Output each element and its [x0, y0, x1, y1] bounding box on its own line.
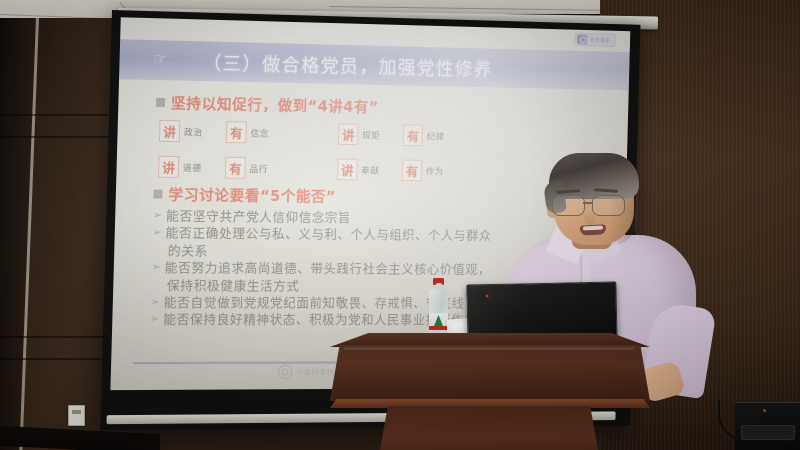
- matrix-word: 作为: [426, 164, 444, 177]
- slide-title: （三）做合格党员，加强党性修养: [203, 48, 493, 81]
- list-item-text: 保持积极健康生活方式: [167, 279, 300, 296]
- list-item-text: 能否正确处理公与私、义与利、个人与组织、个人与群众: [165, 227, 491, 246]
- matrix-row: 讲奉献 有作为: [337, 159, 444, 182]
- matrix-word: 纪律: [426, 129, 444, 142]
- section-one-heading: 坚持以知促行，做到“4讲4有”: [156, 92, 616, 122]
- podium-top: [330, 333, 650, 347]
- speaker-nose: [584, 211, 596, 225]
- arrow-bullet-icon: ➢: [153, 210, 162, 224]
- matrix-char: 讲: [338, 123, 359, 145]
- slide-badge-label: 党员徽章: [590, 36, 610, 43]
- matrix-column-left: 讲政治 有信念 讲道德 有品行: [158, 120, 269, 179]
- list-item-text: 能否努力追求高尚道德、带头践行社会主义核心价值观，: [164, 262, 491, 280]
- list-item-text: 能否坚守共产党人信仰信念宗旨: [166, 210, 351, 228]
- list-item-text: 的关系: [168, 244, 209, 261]
- matrix-char: 讲: [159, 120, 180, 142]
- pointing-hand-icon: ☞: [153, 52, 168, 68]
- slide-badge: 党员徽章: [575, 33, 616, 47]
- water-bottle[interactable]: [429, 283, 448, 338]
- bottle-label: [429, 313, 448, 330]
- podium-base: [374, 406, 604, 450]
- matrix-word: 政治: [184, 125, 203, 138]
- matrix-word: 道德: [183, 161, 202, 174]
- audio-amplifier-rack[interactable]: [735, 402, 800, 450]
- matrix-char: 讲: [337, 159, 358, 181]
- matrix-row: 讲道德 有品行: [158, 156, 268, 179]
- section-one-heading-text: 坚持以知促行，做到“4讲4有”: [171, 92, 379, 117]
- matrix-row: 讲政治 有信念: [159, 120, 269, 144]
- podium-face: [330, 345, 650, 401]
- square-bullet-icon: [156, 98, 165, 107]
- arrow-bullet-icon: ➢: [151, 261, 160, 275]
- person-badge-icon: [577, 35, 587, 45]
- matrix-word: 奉献: [361, 163, 379, 176]
- matrix-char: 有: [226, 121, 247, 143]
- section-two-heading-text: 学习讨论要看“5个能否”: [168, 184, 336, 207]
- matrix-char: 有: [402, 160, 422, 182]
- arrow-bullet-icon: ➢: [152, 227, 161, 241]
- wall-power-outlet[interactable]: [68, 405, 85, 426]
- matrix-char: 有: [225, 157, 246, 179]
- matrix-char: 讲: [158, 156, 179, 178]
- matrix-column-right: 讲规矩 有纪律 讲奉献 有作为: [337, 123, 445, 181]
- matrix-row: 讲规矩 有纪律: [338, 123, 445, 146]
- arrow-bullet-icon: ➢: [150, 296, 159, 310]
- matrix-word: 品行: [249, 162, 268, 175]
- lecture-hall-photo: 党员徽章 ☞ （三）做合格党员，加强党性修养 坚持以知促行，做到“4讲4有”: [0, 0, 800, 450]
- podium: [330, 333, 650, 450]
- list-item-text: 能否自觉做到党规党纪面前知敬畏、存戒惧、守底线: [163, 296, 464, 313]
- matrix-word: 信念: [250, 126, 269, 139]
- emblem-seal-icon: [278, 365, 293, 380]
- arrow-bullet-icon: ➢: [150, 313, 159, 327]
- matrix-char: 有: [403, 124, 423, 146]
- matrix-word: 规矩: [362, 128, 380, 141]
- slide-title-band: ☞ （三）做合格党员，加强党性修养: [119, 39, 630, 90]
- power-led-icon: [763, 409, 766, 412]
- square-bullet-icon: [153, 190, 162, 199]
